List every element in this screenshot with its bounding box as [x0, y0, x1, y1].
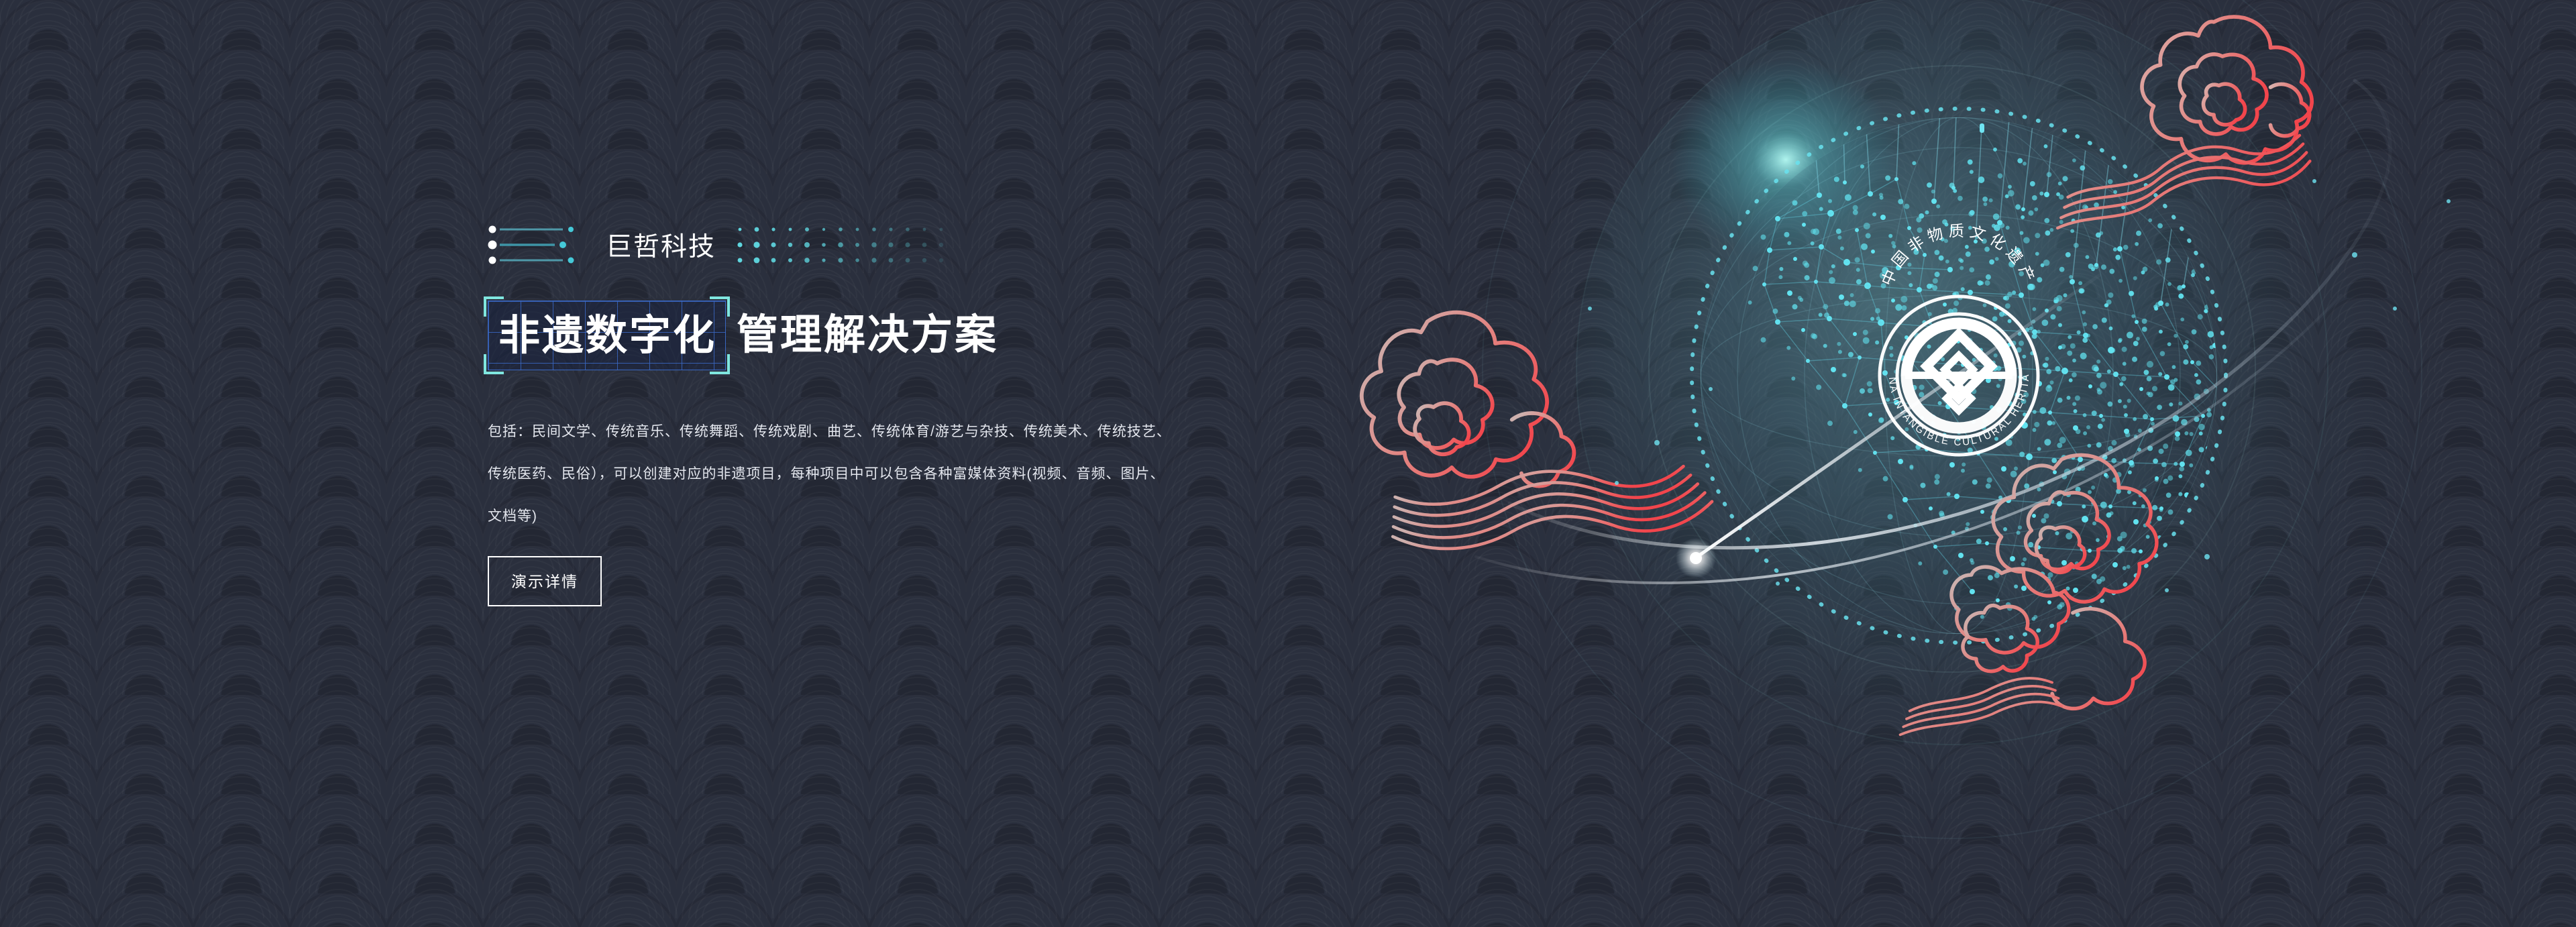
page-title: 非遗数字化 管理解决方案 — [488, 295, 1239, 376]
hero-banner: 中国非物质文化遗产 CHINA INTANGIBLE CULTURAL HERI… — [0, 0, 2576, 927]
brand-name: 巨哲科技 — [606, 226, 716, 264]
three-lines-dots-icon — [488, 224, 588, 266]
demo-details-button[interactable]: 演示详情 — [488, 556, 602, 606]
hero-content: 巨哲科技 — [488, 221, 1239, 606]
headline-highlight-text: 非遗数字化 — [498, 313, 716, 359]
headline-highlight-box: 非遗数字化 — [488, 301, 726, 370]
dot-grid-icon — [736, 224, 961, 266]
seigaiha-wave-background — [0, 0, 2576, 927]
description-text: 包括：民间文学、传统音乐、传统舞蹈、传统戏剧、曲艺、传统体育/游艺与杂技、传统美… — [488, 411, 1179, 537]
brand-row: 巨哲科技 — [488, 221, 1239, 268]
headline-rest-text: 管理解决方案 — [737, 315, 998, 356]
